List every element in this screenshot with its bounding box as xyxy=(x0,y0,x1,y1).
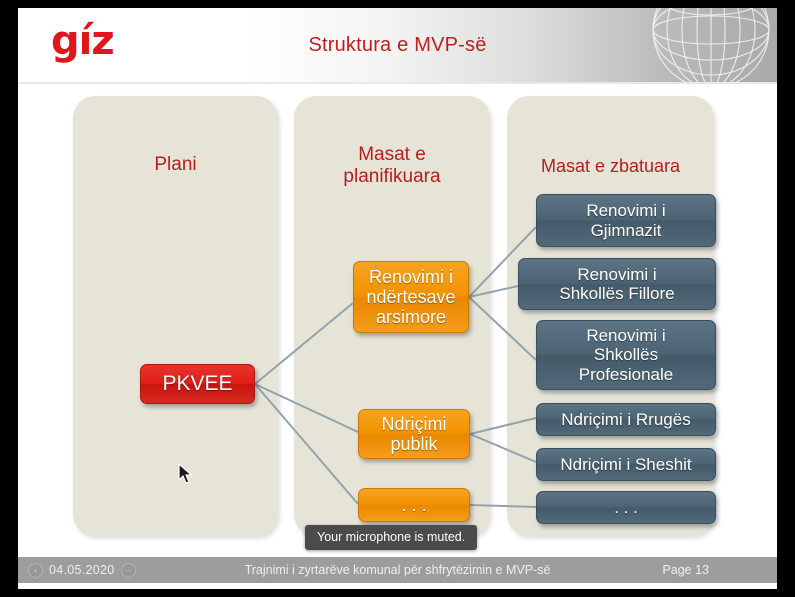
presentation-slide: gíz Struktura e MVP-së xyxy=(18,8,777,589)
node-ndricimi-sheshit[interactable]: Ndriçimi i Sheshit xyxy=(536,448,716,481)
column-title-masat-zbatuara: Masat e zbatuara xyxy=(507,156,714,177)
node-renovimi-gjimnazit[interactable]: Renovimi i Gjimnazit xyxy=(536,194,716,247)
node-ndricimi-publik[interactable]: Ndriçimi publik xyxy=(358,409,470,459)
node-pkvee[interactable]: PKVEE xyxy=(140,364,255,404)
node-ndricimi-rruges[interactable]: Ndriçimi i Rrugës xyxy=(536,403,716,436)
node-renovimi-shkolles-profesionale[interactable]: Renovimi i Shkollës Profesionale xyxy=(536,320,716,390)
column-title-masat-planifikuara: Masat e planifikuara xyxy=(294,144,490,189)
slide-body: Plani Masat e planifikuara Masat e zbatu… xyxy=(18,84,777,549)
column-panel-plani: Plani xyxy=(73,96,278,536)
node-more-middle[interactable]: . . . xyxy=(358,488,470,522)
node-renovimi-shkolles-fillore[interactable]: Renovimi i Shkollës Fillore xyxy=(518,258,716,310)
column-title-plani: Plani xyxy=(73,154,278,176)
footer-page-number: Page 13 xyxy=(662,557,709,583)
microphone-muted-tooltip: Your microphone is muted. xyxy=(305,525,477,550)
node-more-right[interactable]: . . . xyxy=(536,491,716,524)
slide-footer: ‹ 04.05.2020 ··· Trajnimi i zyrtarëve ko… xyxy=(18,557,777,583)
slide-header: gíz Struktura e MVP-së xyxy=(18,8,777,82)
globe-wireframe-icon xyxy=(647,8,775,82)
node-renovimi-ndertesave-arsimore[interactable]: Renovimi i ndërtesave arsimore xyxy=(353,261,469,333)
screen: gíz Struktura e MVP-së xyxy=(0,0,795,597)
